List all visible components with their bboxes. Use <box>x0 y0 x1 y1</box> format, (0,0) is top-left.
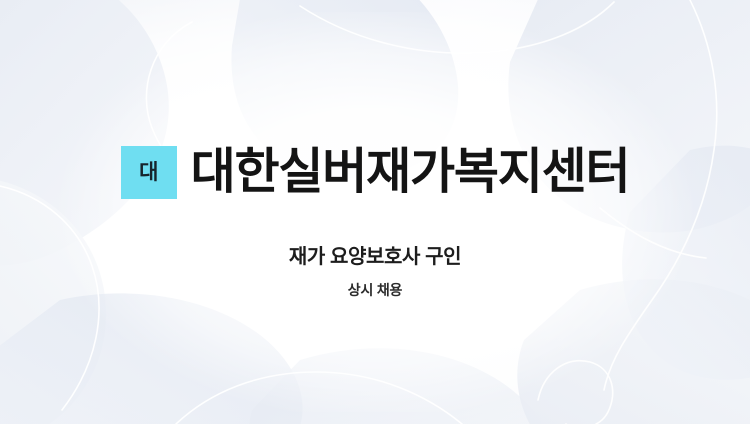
logo-badge-label: 대 <box>139 162 158 183</box>
hiring-status-tagline: 상시 채용 <box>348 283 402 297</box>
recruitment-poster: 대 대한실버재가복지센터 재가 요양보호사 구인 상시 채용 <box>0 0 750 424</box>
logo-badge: 대 <box>121 146 177 199</box>
logo-row: 대 대한실버재가복지센터 <box>121 144 630 200</box>
organization-title: 대한실버재가복지센터 <box>191 148 630 197</box>
poster-content: 대 대한실버재가복지센터 재가 요양보호사 구인 상시 채용 <box>0 0 750 424</box>
job-position-subtitle: 재가 요양보호사 구인 <box>289 247 461 267</box>
